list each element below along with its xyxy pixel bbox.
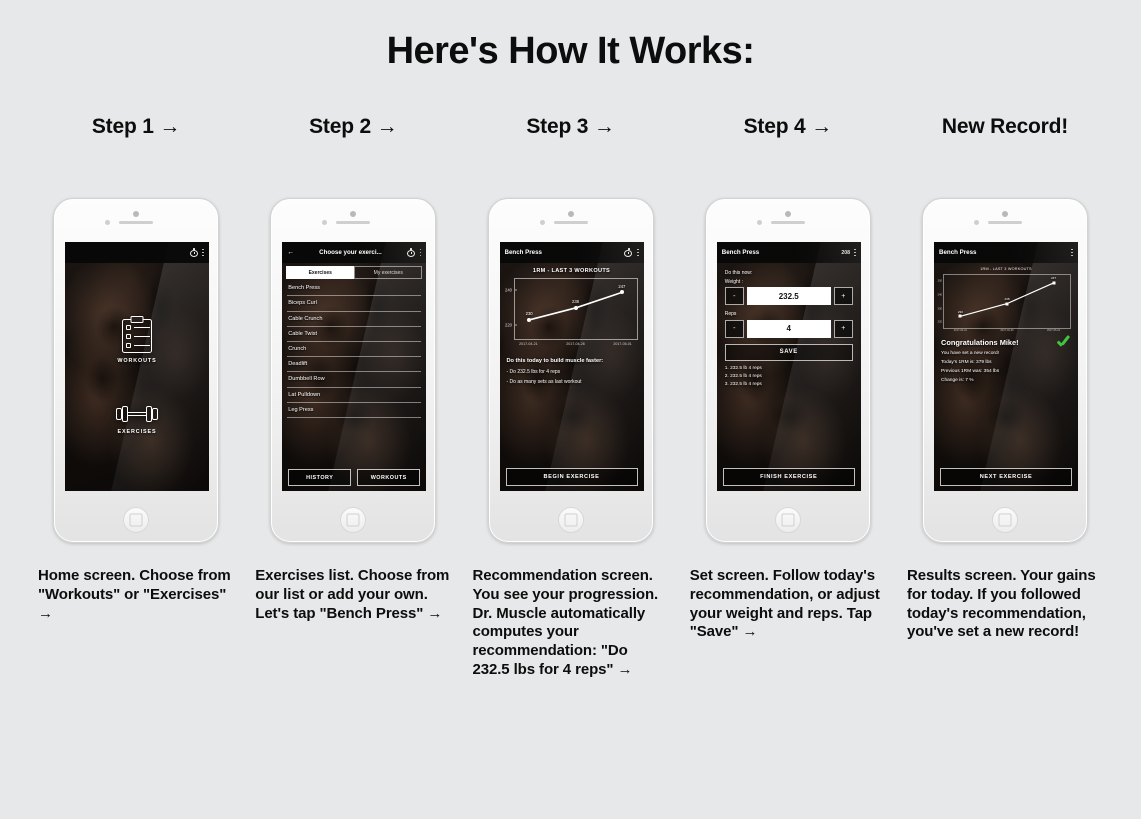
data-point (1006, 302, 1009, 305)
data-point (527, 318, 531, 322)
app-bar: ← Choose your exerci... (282, 242, 426, 263)
reps-label: Reps (725, 311, 853, 317)
reps-stepper: - 4 + (725, 320, 853, 338)
green-check-icon (1057, 337, 1070, 350)
result-line: Previous 1RM was: 354 lbs (941, 369, 1071, 374)
overflow-menu-icon[interactable] (1071, 249, 1073, 256)
phone-home-button[interactable] (992, 507, 1018, 533)
phone-speaker (988, 221, 1022, 224)
chart-title: 1RM - LAST 3 WORKOUTS (934, 267, 1078, 271)
recommendation-title: Do this today to build muscle faster: (507, 358, 637, 364)
data-point (959, 315, 962, 318)
step-caption-2: Exercises list. Choose from our list or … (255, 567, 451, 623)
step-heading-3: Step 3 → (473, 115, 669, 143)
phone-mockup-3: Bench Press 1RM - LAST 3 WORKOUTS 240 22… (473, 198, 669, 543)
phone-sensor-icon (757, 220, 762, 225)
step-heading-2: Step 2 → (255, 115, 451, 143)
data-point-label: 238 (1004, 297, 1009, 301)
overflow-menu-icon[interactable] (202, 249, 204, 256)
list-item[interactable]: Cable Crunch (287, 312, 421, 327)
step-caption-1: Home screen. Choose from "Workouts" or "… (38, 567, 234, 623)
phone-sensor-icon (322, 220, 327, 225)
step-heading-4: Step 4 → (690, 115, 886, 143)
list-item[interactable]: Dumbbell Row (287, 372, 421, 387)
phone-home-button[interactable] (558, 507, 584, 533)
weight-input[interactable]: 232.5 (747, 287, 831, 305)
step-column-2: Step 2 → ← Choose your exerci... (255, 115, 451, 680)
step-column-4: Step 4 → Bench Press 208 (690, 115, 886, 680)
app-bar-title: Bench Press (939, 249, 1067, 256)
app-screen-home[interactable]: WORKOUTS EXERCISES (65, 242, 209, 491)
dumbbell-icon (116, 404, 158, 424)
save-button[interactable]: SAVE (725, 344, 853, 361)
result-line: Change is: 7 % (941, 378, 1071, 383)
app-bar-title: Choose your exerci... (298, 249, 402, 256)
list-item[interactable]: Leg Press (287, 403, 421, 418)
app-bar: Bench Press (500, 242, 644, 263)
list-item[interactable]: Biceps Curl (287, 296, 421, 311)
tab-my-exercises[interactable]: My exercises (354, 266, 422, 279)
progression-chart: 250 240 230 220 230 238 (943, 274, 1071, 329)
x-tick-label: 2017-05-01 (1047, 329, 1060, 332)
phone-mockup-4: Bench Press 208 Do this now: Weight : - … (690, 198, 886, 543)
step-column-3: Step 3 → Bench Press 1RM - (473, 115, 669, 680)
data-point-label: 247 (1051, 276, 1056, 280)
x-tick-label: 2017-04-26 (1000, 329, 1013, 332)
data-point-label: 238 (572, 299, 579, 304)
clipboard-checklist-icon (122, 319, 152, 353)
phone-camera-icon (568, 211, 574, 217)
begin-exercise-button[interactable]: BEGIN EXERCISE (506, 468, 638, 486)
phone-speaker (336, 221, 370, 224)
weight-label: Weight : (725, 279, 853, 285)
reps-input[interactable]: 4 (747, 320, 831, 338)
data-point (1052, 281, 1055, 284)
app-screen-recommendation[interactable]: Bench Press 1RM - LAST 3 WORKOUTS 240 22… (500, 242, 644, 491)
app-screen-results[interactable]: Bench Press 1RM - LAST 3 WORKOUTS 250 24… (934, 242, 1078, 491)
data-point-label: 230 (526, 311, 533, 316)
recommendation-block: Do this today to build muscle faster: - … (507, 358, 637, 385)
phone-camera-icon (785, 211, 791, 217)
phone-mockup-1: WORKOUTS EXERCISES (38, 198, 234, 543)
app-bar (65, 242, 209, 263)
logged-set-row: 2. 232.5 lb 4 reps (725, 374, 853, 379)
x-tick-label: 2017-04-21 (954, 329, 967, 332)
data-point-label: 230 (958, 310, 963, 314)
x-tick-label: 2017-05-01 (613, 342, 631, 346)
result-line: You have set a new record! (941, 351, 1071, 356)
tab-exercises[interactable]: Exercises (286, 266, 354, 279)
weight-increment-button[interactable]: + (834, 287, 853, 305)
page-title: Here's How It Works: (0, 30, 1141, 73)
home-tile-label-workouts: WORKOUTS (117, 358, 156, 364)
phone-camera-icon (133, 211, 139, 217)
home-tile-workouts[interactable]: WORKOUTS (117, 319, 156, 364)
phone-sensor-icon (105, 220, 110, 225)
list-item-clipped[interactable] (287, 418, 421, 432)
list-item[interactable]: Deadlift (287, 357, 421, 372)
rest-timer-value[interactable]: 208 (841, 250, 850, 256)
exercise-tabs: Exercises My exercises (282, 263, 426, 281)
app-bar: Bench Press 208 (717, 242, 861, 263)
reps-decrement-button[interactable]: - (725, 320, 744, 338)
bottom-button-bar: HISTORY WORKOUTS (282, 469, 426, 486)
app-screen-exercise-list[interactable]: ← Choose your exerci... Exercises My exe… (282, 242, 426, 491)
overflow-menu-icon[interactable] (420, 249, 422, 256)
phone-mockup-2: ← Choose your exerci... Exercises My exe… (255, 198, 451, 543)
y-tick-label: 220 (505, 322, 515, 327)
reps-increment-button[interactable]: + (834, 320, 853, 338)
logged-set-row: 3. 232.5 lb 4 reps (725, 382, 853, 387)
phone-speaker (771, 221, 805, 224)
app-bar-title: Bench Press (722, 249, 838, 256)
list-item[interactable]: Crunch (287, 342, 421, 357)
weight-stepper: - 232.5 + (725, 287, 853, 305)
app-screen-set-entry[interactable]: Bench Press 208 Do this now: Weight : - … (717, 242, 861, 491)
stopwatch-icon[interactable] (189, 248, 198, 257)
x-tick-label: 2017-04-26 (566, 342, 584, 346)
overflow-menu-icon[interactable] (854, 249, 856, 256)
logged-set-row: 1. 232.5 lb 4 reps (725, 366, 853, 371)
step-column-1: Step 1 → (38, 115, 234, 680)
congratulations-heading: Congratulations Mike! (941, 338, 1071, 347)
phone-home-button[interactable] (340, 507, 366, 533)
list-item[interactable]: Cable Twist (287, 327, 421, 342)
weight-decrement-button[interactable]: - (725, 287, 744, 305)
phone-camera-icon (350, 211, 356, 217)
steps-row: Step 1 → (0, 115, 1141, 680)
app-bar-title: Bench Press (505, 249, 620, 256)
list-item[interactable]: Lat Pulldown (287, 388, 421, 403)
step-column-5: New Record! Bench Press 1RM - LAST 3 WOR… (907, 115, 1103, 680)
data-point-label: 247 (618, 284, 625, 289)
history-button[interactable]: HISTORY (288, 469, 351, 486)
overflow-menu-icon[interactable] (637, 249, 639, 256)
step-caption-4: Set screen. Follow today's recommendatio… (690, 567, 886, 642)
phone-speaker (554, 221, 588, 224)
phone-speaker (119, 221, 153, 224)
step-heading-5: New Record! (907, 115, 1103, 143)
y-tick-label: 240 (505, 287, 515, 292)
back-arrow-icon[interactable]: ← (287, 249, 294, 256)
results-block: Congratulations Mike! You have set a new… (934, 338, 1078, 383)
set-prompt: Do this now: (725, 270, 853, 276)
stopwatch-icon[interactable] (407, 248, 416, 257)
x-tick-label: 2017-04-21 (519, 342, 537, 346)
data-point (620, 290, 624, 294)
finish-exercise-button[interactable]: FINISH EXERCISE (723, 468, 855, 486)
chart-x-axis: 2017-04-21 2017-04-26 2017-05-01 (514, 342, 638, 350)
chart-title: 1RM - LAST 3 WORKOUTS (500, 268, 644, 274)
progression-chart: 240 220 230 238 247 (514, 278, 638, 340)
workouts-button[interactable]: WORKOUTS (357, 469, 420, 486)
phone-mockup-5: Bench Press 1RM - LAST 3 WORKOUTS 250 24… (907, 198, 1103, 543)
phone-home-button[interactable] (123, 507, 149, 533)
exercise-list: Bench Press Biceps Curl Cable Crunch Cab… (282, 281, 426, 432)
home-tile-label-exercises: EXERCISES (118, 429, 157, 435)
home-tile-exercises[interactable]: EXERCISES (116, 404, 158, 435)
recommendation-line: - Do as many sets as last workout (507, 379, 637, 385)
app-bar: Bench Press (934, 242, 1078, 263)
phone-sensor-icon (974, 220, 979, 225)
data-point (574, 306, 578, 310)
recommendation-line: - Do 232.5 lbs for 4 reps (507, 369, 637, 375)
list-item[interactable]: Bench Press (287, 281, 421, 296)
result-line: Today's 1RM is: 379 lbs (941, 360, 1071, 365)
next-exercise-button[interactable]: NEXT EXERCISE (940, 468, 1072, 486)
phone-sensor-icon (540, 220, 545, 225)
step-caption-5: Results screen. Your gains for today. If… (907, 567, 1103, 642)
stopwatch-icon[interactable] (624, 248, 633, 257)
step-heading-1: Step 1 → (38, 115, 234, 143)
step-caption-3: Recommendation screen. You see your prog… (473, 567, 669, 680)
phone-home-button[interactable] (775, 507, 801, 533)
phone-camera-icon (1002, 211, 1008, 217)
